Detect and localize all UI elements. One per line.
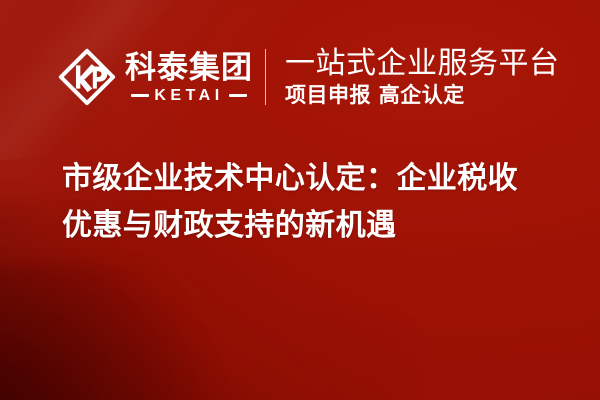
brand-dash-left-icon <box>131 94 149 97</box>
banner-header: 科泰集团 KETAI 一站式企业服务平台 项目申报 高企认定 <box>0 34 600 120</box>
tagline-block: 一站式企业服务平台 项目申报 高企认定 <box>285 47 560 108</box>
page-title-line-1: 市级企业技术中心认定：企业税收 <box>62 155 562 202</box>
ketai-diamond-kp-logo-icon <box>58 48 116 106</box>
tagline-secondary: 项目申报 高企认定 <box>285 82 560 108</box>
brand-lockup: 科泰集团 KETAI <box>58 48 253 106</box>
page-title-line-2: 优惠与财政支持的新机遇 <box>62 202 562 249</box>
promo-banner: 科泰集团 KETAI 一站式企业服务平台 项目申报 高企认定 市级企业技术中心认… <box>0 0 600 400</box>
brand-name-en-row: KETAI <box>125 87 253 104</box>
brand-name-cn: 科泰集团 <box>125 51 253 85</box>
brand-dash-right-icon <box>229 94 247 97</box>
page-title: 市级企业技术中心认定：企业税收 优惠与财政支持的新机遇 <box>62 155 562 249</box>
header-vertical-divider <box>265 49 266 105</box>
brand-wordmark: 科泰集团 KETAI <box>125 51 253 104</box>
brand-name-en: KETAI <box>154 87 223 104</box>
tagline-primary: 一站式企业服务平台 <box>285 47 560 81</box>
background-corner-shadow <box>0 264 240 400</box>
